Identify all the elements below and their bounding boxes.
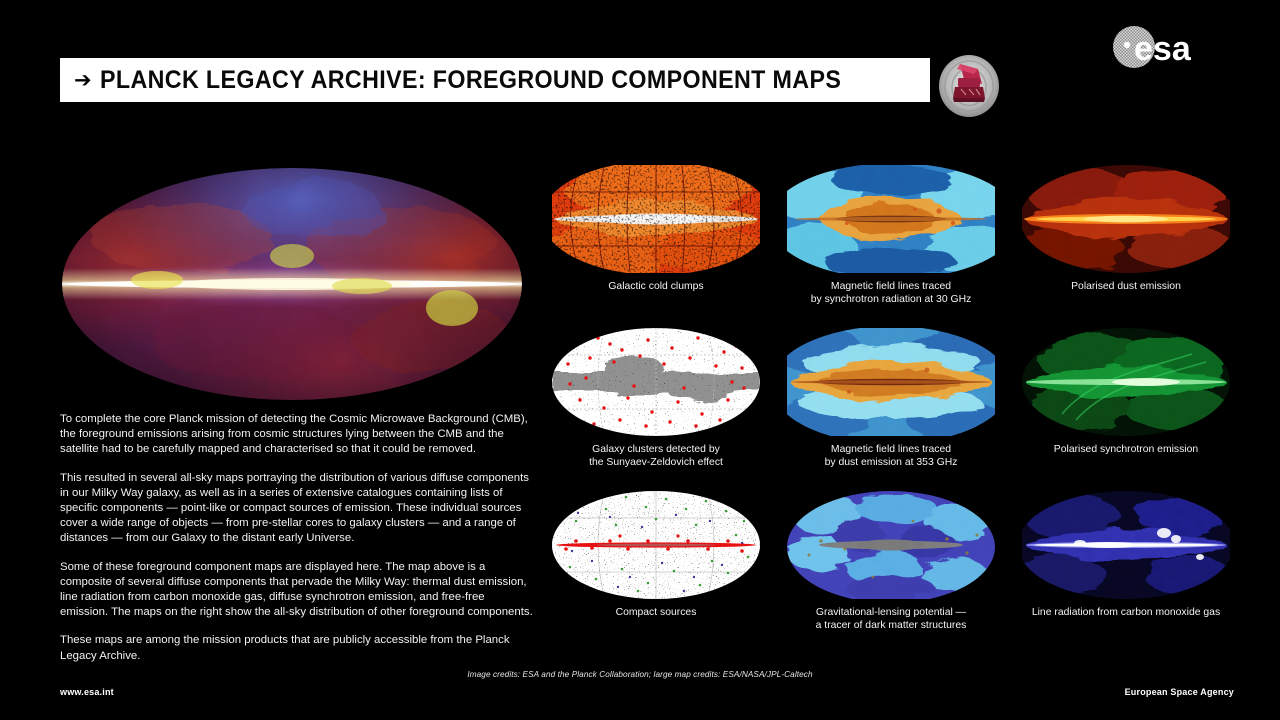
arrow-icon: ➔	[74, 70, 92, 91]
caption-line: Magnetic field lines traced	[775, 280, 1007, 293]
caption-line: by dust emission at 353 GHz	[775, 456, 1007, 469]
map-cell-sz-clusters: Galaxy clusters detected by the Sunyaev-…	[540, 328, 772, 469]
caption-compact-sources: Compact sources	[540, 606, 772, 619]
caption-line: Polarised synchrotron emission	[1010, 443, 1242, 456]
map-cell-galactic-cold-clumps: Galactic cold clumps	[540, 165, 772, 293]
caption-line: Gravitational-lensing potential —	[775, 606, 1007, 619]
page-header: ➔ PLANCK LEGACY ARCHIVE: FOREGROUND COMP…	[0, 0, 1280, 130]
caption-polarised-dust: Polarised dust emission	[1010, 280, 1242, 293]
caption-synchrotron-30ghz: Magnetic field lines traced by synchrotr…	[775, 280, 1007, 306]
map-cell-polarised-synchrotron: Polarised synchrotron emission	[1010, 328, 1242, 456]
map-cell-synchrotron-30ghz: Magnetic field lines traced by synchrotr…	[775, 165, 1007, 306]
paragraph-1: To complete the core Planck mission of d…	[60, 412, 535, 458]
caption-line: by synchrotron radiation at 30 GHz	[775, 293, 1007, 306]
composite-foreground-map	[62, 168, 522, 400]
esa-logo: esa	[1108, 24, 1258, 70]
gravitational-lensing-potential-map	[787, 491, 995, 599]
caption-line: Galaxy clusters detected by	[540, 443, 772, 456]
page-title-bar: ➔ PLANCK LEGACY ARCHIVE: FOREGROUND COMP…	[60, 58, 930, 102]
caption-line: Line radiation from carbon monoxide gas	[1010, 606, 1242, 619]
planck-satellite-badge-icon	[930, 47, 1008, 125]
paragraph-3: Some of these foreground component maps …	[60, 560, 535, 621]
caption-line: Polarised dust emission	[1010, 280, 1242, 293]
co-line-radiation-map	[1022, 491, 1230, 599]
caption-line: a tracer of dark matter structures	[775, 619, 1007, 632]
image-credits: Image credits: ESA and the Planck Collab…	[0, 670, 1280, 679]
caption-co-emission: Line radiation from carbon monoxide gas	[1010, 606, 1242, 619]
galactic-cold-clumps-map	[552, 165, 760, 273]
polarised-synchrotron-map	[1022, 328, 1230, 436]
description-text: To complete the core Planck mission of d…	[60, 412, 535, 664]
foreground-map-grid: Galactic cold clumps	[540, 165, 1260, 635]
map-cell-polarised-dust: Polarised dust emission	[1010, 165, 1242, 293]
esa-website-url[interactable]: www.esa.int	[60, 687, 114, 697]
caption-lensing-potential: Gravitational-lensing potential — a trac…	[775, 606, 1007, 632]
map-cell-compact-sources: Compact sources	[540, 491, 772, 619]
compact-sources-map	[552, 491, 760, 599]
paragraph-4: These maps are among the mission product…	[60, 633, 535, 663]
caption-polarised-synchrotron: Polarised synchrotron emission	[1010, 443, 1242, 456]
paragraph-2: This resulted in several all-sky maps po…	[60, 471, 535, 547]
caption-line: Galactic cold clumps	[540, 280, 772, 293]
caption-dust-353ghz: Magnetic field lines traced by dust emis…	[775, 443, 1007, 469]
dust-bfield-353ghz-map	[787, 328, 995, 436]
caption-line: the Sunyaev-Zeldovich effect	[540, 456, 772, 469]
caption-sz-clusters: Galaxy clusters detected by the Sunyaev-…	[540, 443, 772, 469]
synchrotron-30ghz-map	[787, 165, 995, 273]
map-cell-lensing-potential: Gravitational-lensing potential — a trac…	[775, 491, 1007, 632]
svg-text:esa: esa	[1134, 30, 1192, 68]
map-cell-co-emission: Line radiation from carbon monoxide gas	[1010, 491, 1242, 619]
caption-galactic-cold-clumps: Galactic cold clumps	[540, 280, 772, 293]
sz-galaxy-clusters-map	[552, 328, 760, 436]
page-title: PLANCK LEGACY ARCHIVE: FOREGROUND COMPON…	[100, 66, 841, 95]
map-cell-dust-353ghz: Magnetic field lines traced by dust emis…	[775, 328, 1007, 469]
caption-line: Magnetic field lines traced	[775, 443, 1007, 456]
caption-line: Compact sources	[540, 606, 772, 619]
agency-name: European Space Agency	[1125, 687, 1234, 697]
polarised-dust-emission-map	[1022, 165, 1230, 273]
